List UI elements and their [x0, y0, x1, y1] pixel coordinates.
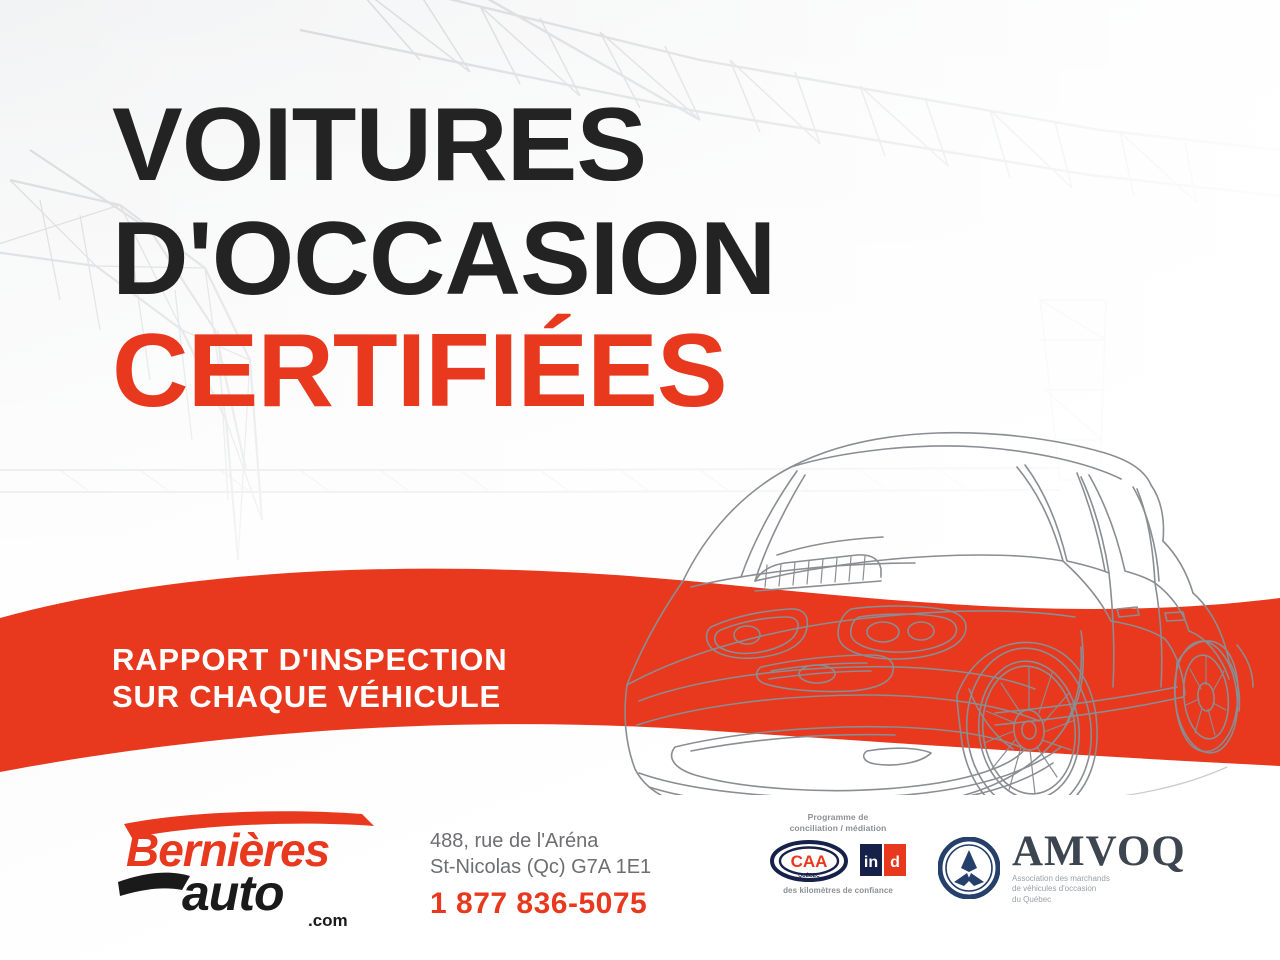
headline-line-1: VOITURES	[112, 96, 775, 196]
amvoq-emblem-icon	[938, 837, 1000, 899]
ind-partner-logo-icon: in d	[860, 842, 906, 880]
address-city-postal: St-Nicolas (Qc) G7A 1E1	[430, 854, 720, 880]
headline-block: VOITURES D'OCCASION CERTIFIÉES	[112, 96, 762, 421]
contact-block: 488, rue de l'Aréna St-Nicolas (Qc) G7A …	[430, 828, 720, 921]
caa-program-block: Programme de conciliation / médiation CA…	[748, 812, 928, 895]
car-illustration	[565, 395, 1265, 795]
caa-program-line-2: conciliation / médiation	[748, 823, 928, 834]
amvoq-wordmark: AMVOQ	[1012, 832, 1186, 872]
caa-logo-icon: CAA QUÉBEC	[770, 840, 848, 882]
logo-auto-text: auto	[182, 865, 284, 921]
amvoq-tagline-line-1: Association des marchands	[1012, 874, 1177, 885]
banner-line-1: RAPPORT D'INSPECTION	[112, 642, 507, 679]
amvoq-tagline-line-2: de véhicules d'occasion	[1012, 884, 1177, 895]
caa-logo-wordmark: CAA	[791, 852, 828, 871]
footer-bar: Bernières auto .com 488, rue de l'Aréna …	[0, 790, 1280, 960]
amvoq-block: AMVOQ Association des marchands de véhic…	[938, 830, 1186, 905]
svg-text:d: d	[890, 854, 900, 871]
logo-tld-text: .com	[308, 911, 348, 928]
banner-line-2: SUR CHAQUE VÉHICULE	[112, 679, 507, 716]
caa-logo-subtext: QUÉBEC	[798, 871, 820, 879]
inspection-banner-text: RAPPORT D'INSPECTION SUR CHAQUE VÉHICULE	[112, 642, 507, 715]
advertisement-poster: VOITURES D'OCCASION CERTIFIÉES RAPPORT D…	[0, 0, 1280, 960]
amvoq-text-wrap: AMVOQ Association des marchands de véhic…	[1012, 830, 1186, 905]
phone-number[interactable]: 1 877 836-5075	[430, 887, 720, 921]
amvoq-tagline-line-3: du Québec	[1012, 895, 1177, 906]
headline-line-3-certified: CERTIFIÉES	[112, 322, 775, 422]
caa-logo-row: CAA QUÉBEC in d	[748, 840, 928, 882]
svg-text:in: in	[864, 854, 878, 871]
caa-tagline: des kilomètres de confiance	[748, 886, 928, 895]
caa-program-line-1: Programme de	[748, 812, 928, 823]
dealer-logo[interactable]: Bernières auto .com	[112, 798, 392, 928]
amvoq-tagline: Association des marchands de véhicules d…	[1012, 874, 1177, 906]
headline-line-2: D'OCCASION	[112, 210, 775, 310]
bernieres-auto-logo-mark: Bernières auto .com	[112, 798, 392, 928]
address-street: 488, rue de l'Aréna	[430, 828, 720, 854]
